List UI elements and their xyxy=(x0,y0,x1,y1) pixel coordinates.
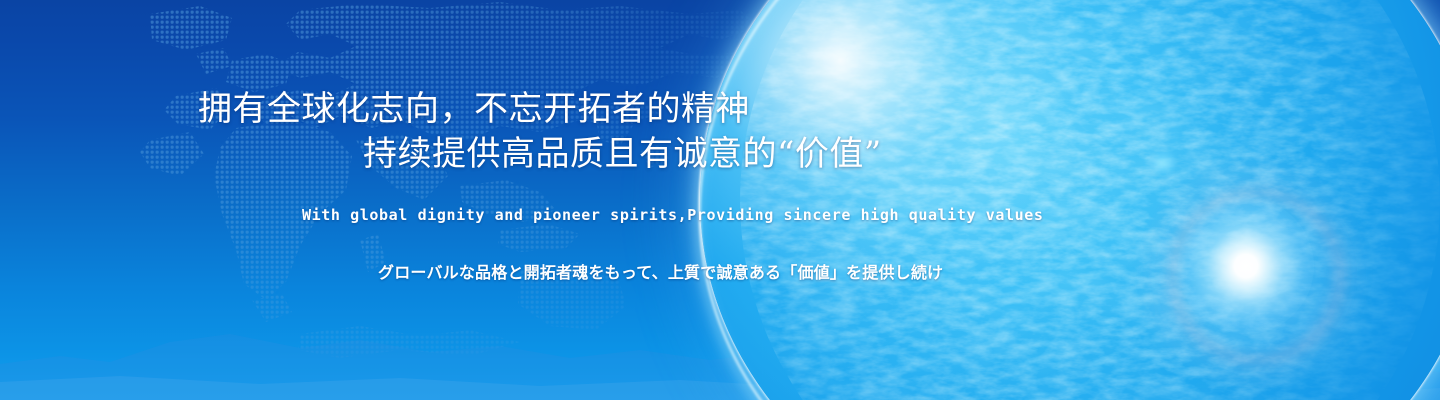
globe-surface xyxy=(700,0,1440,400)
sky-glow xyxy=(820,0,1440,400)
globe-texture xyxy=(700,0,1440,400)
headline-line-2: 持续提供高品质且有诚意的“价值” xyxy=(363,137,882,171)
banner-copy: 拥有全球化志向，不忘开拓者的精神 持续提供高品质且有诚意的“价值” With g… xyxy=(0,0,1000,400)
sun-halo-outer xyxy=(1150,170,1356,376)
sun-bloom xyxy=(1120,140,1380,400)
globe-rim-highlight xyxy=(653,0,1440,400)
globe-rim-glow xyxy=(649,0,1440,400)
sun-flare xyxy=(1178,198,1314,334)
earth-globe xyxy=(700,0,1440,400)
subline-english: With global dignity and pioneer spirits,… xyxy=(302,206,1044,224)
headline-line-1: 拥有全球化志向，不忘开拓者的精神 xyxy=(198,92,750,126)
sun-halo-inner xyxy=(1168,188,1344,364)
lens-flare-orb xyxy=(1149,149,1177,177)
hero-banner: 拥有全球化志向，不忘开拓者的精神 持续提供高品质且有诚意的“价值” With g… xyxy=(0,0,1440,400)
light-rays xyxy=(980,30,1440,400)
dotted-world-map xyxy=(0,0,800,400)
mountain-ridge xyxy=(0,290,1440,400)
subline-japanese: グローバルな品格と開拓者魂をもって、上質で誠意ある「価値」を提供し続け xyxy=(378,259,943,283)
